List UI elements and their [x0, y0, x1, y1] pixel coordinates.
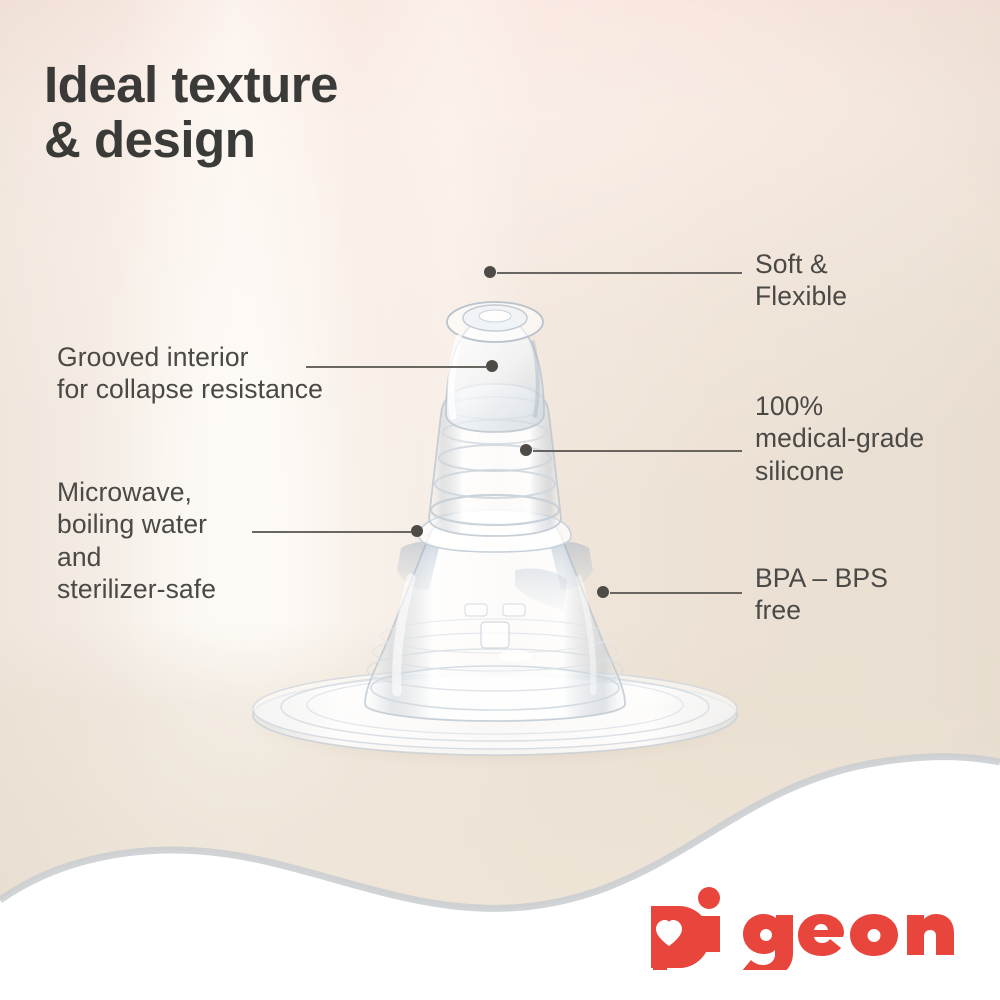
- brand-logo-pigeon: [645, 884, 965, 970]
- leader-line-medical-grade: [533, 450, 742, 452]
- callout-label-medical-grade: 100% medical-grade silicone: [755, 390, 924, 487]
- page-title: Ideal texture & design: [44, 57, 338, 167]
- leader-line-grooved-interior: [306, 366, 486, 368]
- product-image-nipple: [215, 218, 775, 778]
- leader-dot-microwave-safe: [411, 525, 423, 537]
- leader-dot-soft-flexible: [484, 266, 496, 278]
- callout-label-grooved-interior: Grooved interior for collapse resistance: [57, 341, 323, 406]
- callout-label-bpa-bps-free: BPA – BPS free: [755, 562, 888, 627]
- leader-dot-grooved-interior: [486, 360, 498, 372]
- product-infographic: Ideal texture & design: [0, 0, 1000, 1000]
- callout-label-soft-flexible: Soft & Flexible: [755, 248, 847, 313]
- callout-label-microwave-safe: Microwave, boiling water and sterilizer-…: [57, 476, 216, 605]
- leader-dot-medical-grade: [520, 444, 532, 456]
- leader-line-microwave-safe: [252, 531, 411, 533]
- leader-dot-bpa-bps-free: [597, 586, 609, 598]
- leader-line-soft-flexible: [497, 272, 742, 274]
- leader-line-bpa-bps-free: [610, 592, 742, 594]
